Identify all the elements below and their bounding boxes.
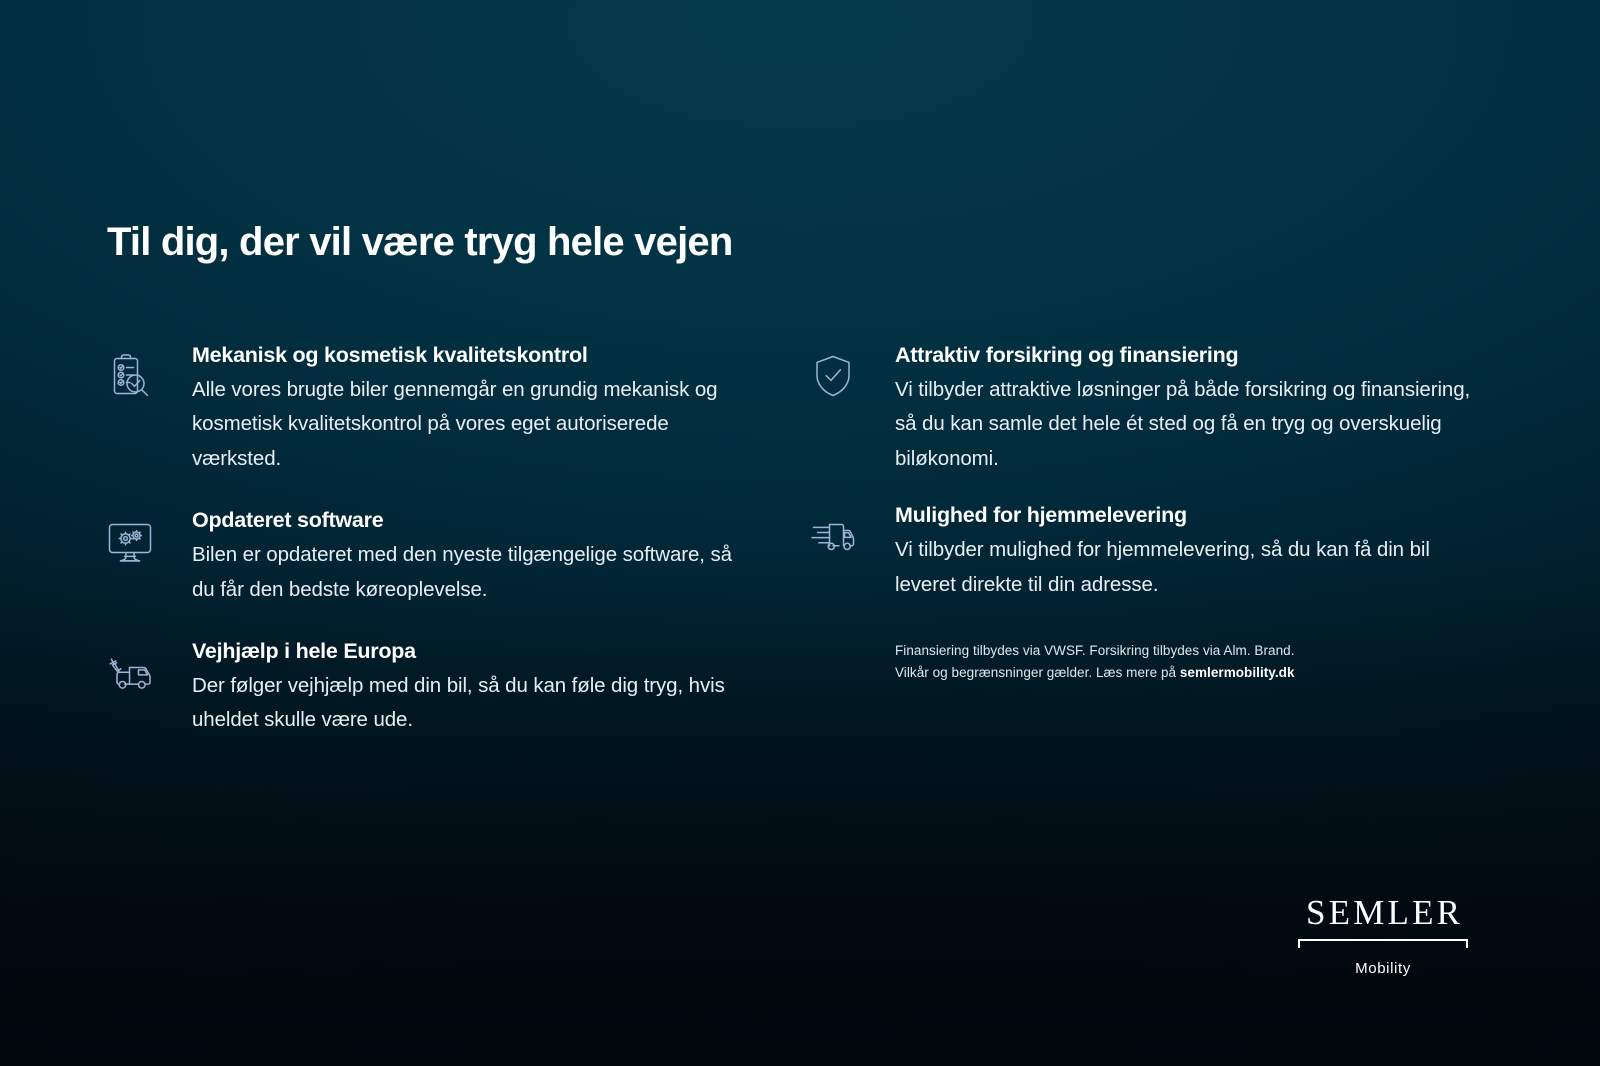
feature-item-insurance-financing: Attraktiv forsikring og finansiering Vi …: [803, 342, 1483, 476]
logo-rule-tick-right: [1466, 939, 1468, 948]
feature-title: Opdateret software: [192, 507, 740, 535]
shield-check-icon: [807, 350, 859, 402]
feature-body: Alle vores brugte biler gennemgår en gru…: [192, 373, 740, 476]
feature-title: Attraktiv forsikring og finansiering: [895, 342, 1483, 370]
disclaimer-line-1: Finansiering tilbydes via VWSF. Forsikri…: [895, 643, 1295, 658]
feature-column-left: Mekanisk og kosmetisk kvalitetskontrol A…: [100, 342, 740, 738]
feature-body: Bilen er opdateret med den nyeste tilgæn…: [192, 538, 740, 607]
clipboard-checklist-magnifier-icon: [104, 350, 156, 402]
logo-subtitle: Mobility: [1298, 960, 1468, 977]
disclaimer-line-2-prefix: Vilkår og begrænsninger gælder. Læs mere…: [895, 665, 1180, 680]
monitor-gears-icon: [104, 515, 156, 567]
page-title: Til dig, der vil være tryg hele vejen: [107, 219, 732, 265]
feature-body: Der følger vejhjælp med din bil, så du k…: [192, 669, 740, 738]
logo-rule-bar: [1298, 939, 1468, 941]
feature-item-home-delivery: Mulighed for hjemmelevering Vi tilbyder …: [803, 502, 1483, 602]
feature-title: Mulighed for hjemmelevering: [895, 502, 1483, 530]
logo-bracket-rule: [1298, 939, 1468, 951]
semler-mobility-logo: SEMLER Mobility: [1298, 895, 1468, 977]
logo-rule-tick-left: [1298, 939, 1300, 948]
delivery-truck-icon: [807, 510, 859, 562]
disclaimer-text: Finansiering tilbydes via VWSF. Forsikri…: [803, 640, 1455, 684]
feature-item-roadside-assistance: Vejhjælp i hele Europa Der følger vejhjæ…: [100, 638, 740, 738]
logo-wordmark: SEMLER: [1298, 895, 1468, 930]
feature-body: Vi tilbyder attraktive løsninger på både…: [895, 373, 1483, 476]
feature-column-right: Attraktiv forsikring og finansiering Vi …: [803, 342, 1483, 684]
semlermobility-link[interactable]: semlermobility.dk: [1180, 665, 1295, 680]
tow-truck-icon: [104, 646, 156, 698]
feature-body: Vi tilbyder mulighed for hjemmelevering,…: [895, 533, 1483, 602]
slide-canvas: Til dig, der vil være tryg hele vejen: [0, 0, 1600, 1066]
feature-item-updated-software: Opdateret software Bilen er opdateret me…: [100, 507, 740, 607]
feature-title: Mekanisk og kosmetisk kvalitetskontrol: [192, 342, 740, 370]
feature-title: Vejhjælp i hele Europa: [192, 638, 740, 666]
feature-item-quality-control: Mekanisk og kosmetisk kvalitetskontrol A…: [100, 342, 740, 476]
